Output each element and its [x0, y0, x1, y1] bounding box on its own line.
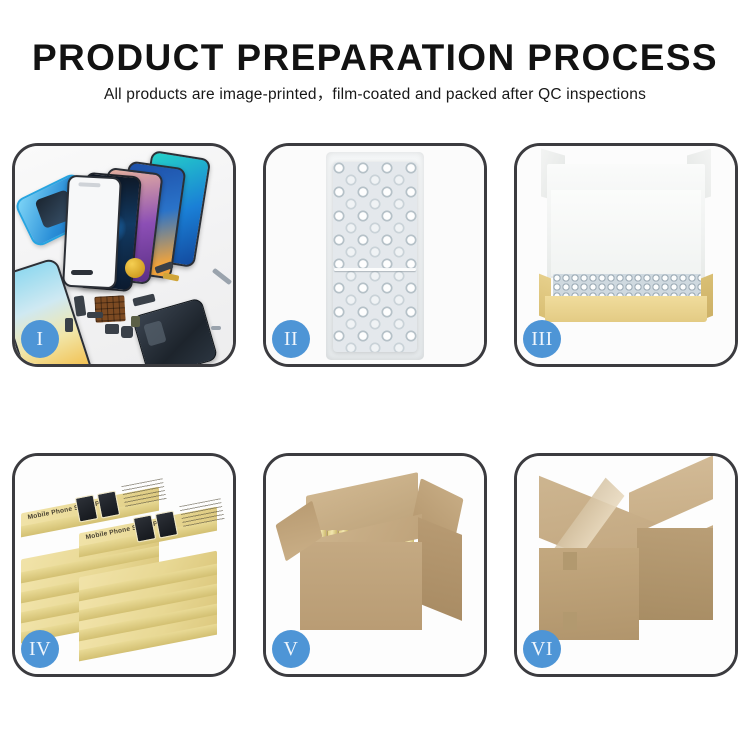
foam-lining-icon [551, 190, 701, 276]
step-badge-5: V [272, 630, 310, 668]
step-panel-2: II [263, 143, 487, 367]
carton-front [539, 548, 639, 640]
step-badge-2: II [272, 320, 310, 358]
spec-lines [121, 478, 166, 508]
bubble-texture [333, 162, 417, 352]
spare-part-icon [71, 270, 93, 275]
carton-front [300, 542, 422, 630]
carton-side [637, 528, 713, 620]
step-badge-3: III [523, 320, 561, 358]
spare-part-icon [121, 326, 133, 338]
screw-icon [211, 326, 221, 330]
spare-part-icon [131, 316, 140, 327]
product-preparation-infographic: PRODUCT PREPARATION PROCESS All products… [0, 0, 750, 750]
box-front-wall [545, 296, 707, 322]
step-badge-6: VI [523, 630, 561, 668]
steps-grid: I II III [0, 0, 750, 750]
spare-part-icon [65, 318, 73, 332]
step-badge-1: I [21, 320, 59, 358]
step-panel-4: Mobile Phone Spare Parts [12, 453, 236, 677]
step-panel-3: III [514, 143, 738, 367]
spec-lines [179, 498, 224, 528]
carton-flap-seam [563, 552, 577, 570]
step-badge-4: IV [21, 630, 59, 668]
bubble-wrap-pouch-icon [326, 152, 424, 360]
carton-flap-seam [563, 612, 577, 630]
speaker-coil-icon [125, 258, 145, 278]
carton-side [418, 517, 462, 621]
step-panel-1: I [12, 143, 236, 367]
spare-part-icon [87, 312, 103, 318]
retail-box [79, 564, 217, 581]
step-panel-5: V [263, 453, 487, 677]
spare-part-icon [105, 324, 119, 334]
step-panel-6: VI [514, 453, 738, 677]
connector-board-icon [94, 295, 125, 323]
pouch-seam [334, 268, 416, 271]
